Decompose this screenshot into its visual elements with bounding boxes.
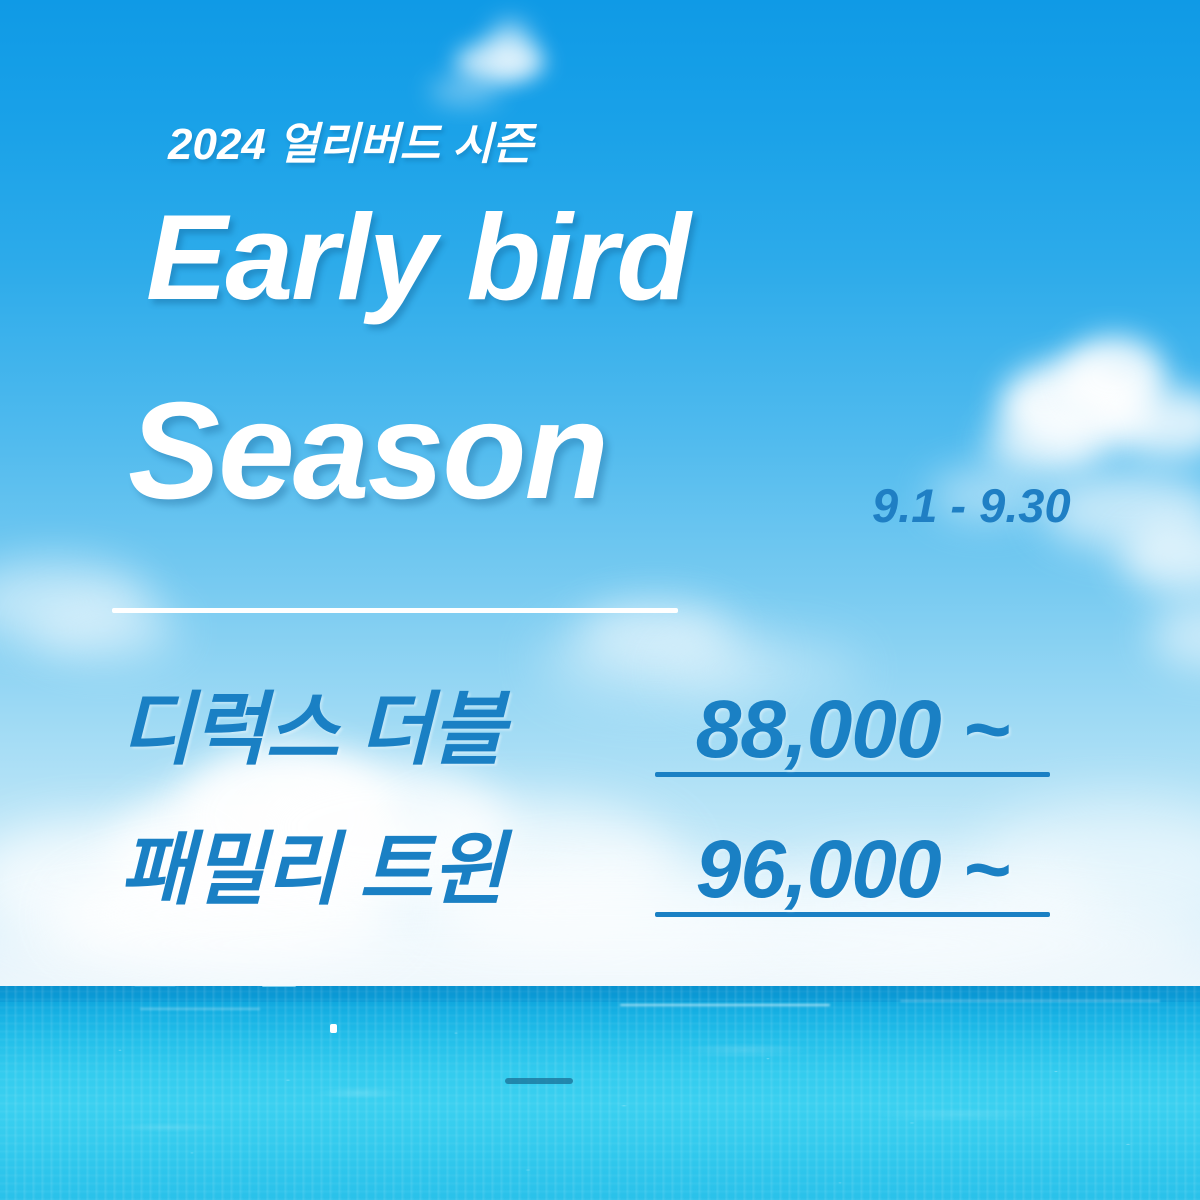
- room-type-label: 디럭스 더블: [120, 684, 504, 775]
- early-bird-promo-banner: 2024 얼리버드 시즌 Early bird Season 9.1 - 9.3…: [0, 0, 1200, 1200]
- headline-season: Season: [128, 382, 607, 520]
- promo-date-range: 9.1 - 9.30: [872, 478, 1071, 533]
- table-row: 패밀리 트윈 96,000 ~: [112, 824, 1072, 964]
- table-row: 디럭스 더블 88,000 ~: [112, 684, 1072, 824]
- pricing-table: 디럭스 더블 88,000 ~ 패밀리 트윈 96,000 ~: [112, 684, 1072, 964]
- price-value: 96,000 ~: [655, 824, 1050, 916]
- banner-content: 2024 얼리버드 시즌 Early bird Season 9.1 - 9.3…: [0, 0, 1200, 1200]
- price-value: 88,000 ~: [655, 684, 1050, 776]
- headline-early-bird: Early bird: [146, 196, 689, 318]
- section-divider: [112, 608, 678, 613]
- room-type-label: 패밀리 트윈: [120, 824, 504, 915]
- price-cell: 88,000 ~: [655, 684, 1050, 777]
- price-cell: 96,000 ~: [655, 824, 1050, 917]
- promo-kicker-text: 2024 얼리버드 시즌: [168, 108, 533, 172]
